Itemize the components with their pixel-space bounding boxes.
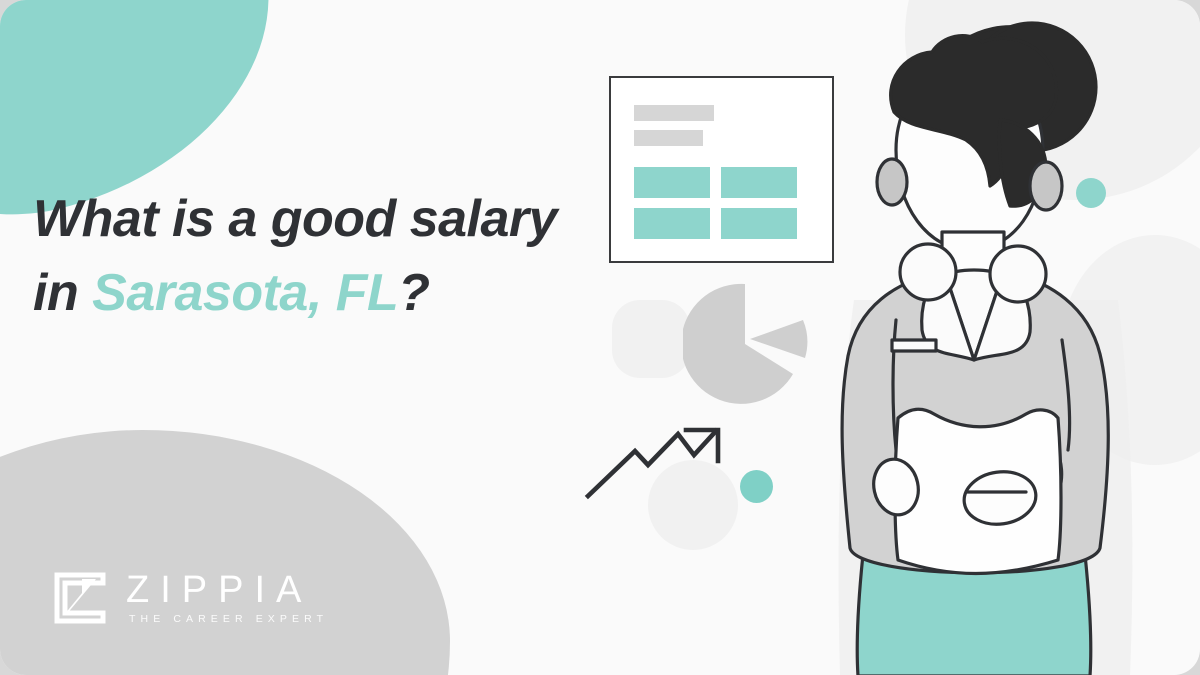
brand-tagline: THE CAREER EXPERT bbox=[126, 613, 328, 625]
document-cell-1 bbox=[634, 167, 710, 198]
headline-part-two: ? bbox=[398, 264, 429, 322]
page-title: What is a good salary in Sarasota, FL? bbox=[33, 183, 573, 331]
slide-canvas: What is a good salary in Sarasota, FL? bbox=[0, 0, 1200, 675]
slide-root: What is a good salary in Sarasota, FL? bbox=[0, 0, 1200, 675]
upward-trend-arrow-graphic bbox=[582, 418, 727, 508]
document-cell-4 bbox=[721, 208, 797, 239]
faint-circle-a-icon bbox=[612, 300, 690, 378]
document-title-bar-short bbox=[634, 130, 703, 146]
gray-blob-bottom-left-icon bbox=[0, 430, 450, 675]
teal-dot-medium-icon bbox=[740, 470, 773, 503]
zippia-logo[interactable]: ZIPPIA THE CAREER EXPERT bbox=[52, 570, 328, 626]
document-cell-3 bbox=[634, 208, 710, 239]
zippia-z-mark-icon bbox=[52, 570, 108, 626]
zippia-wordmark: ZIPPIA THE CAREER EXPERT bbox=[126, 571, 328, 625]
businesswoman-illustration bbox=[800, 0, 1200, 675]
document-title-bar-long bbox=[634, 105, 714, 121]
pie-chart-graphic bbox=[683, 282, 813, 409]
brand-name: ZIPPIA bbox=[126, 571, 328, 611]
headline-location-accent: Sarasota, FL bbox=[92, 264, 398, 322]
document-cell-2 bbox=[721, 167, 797, 198]
